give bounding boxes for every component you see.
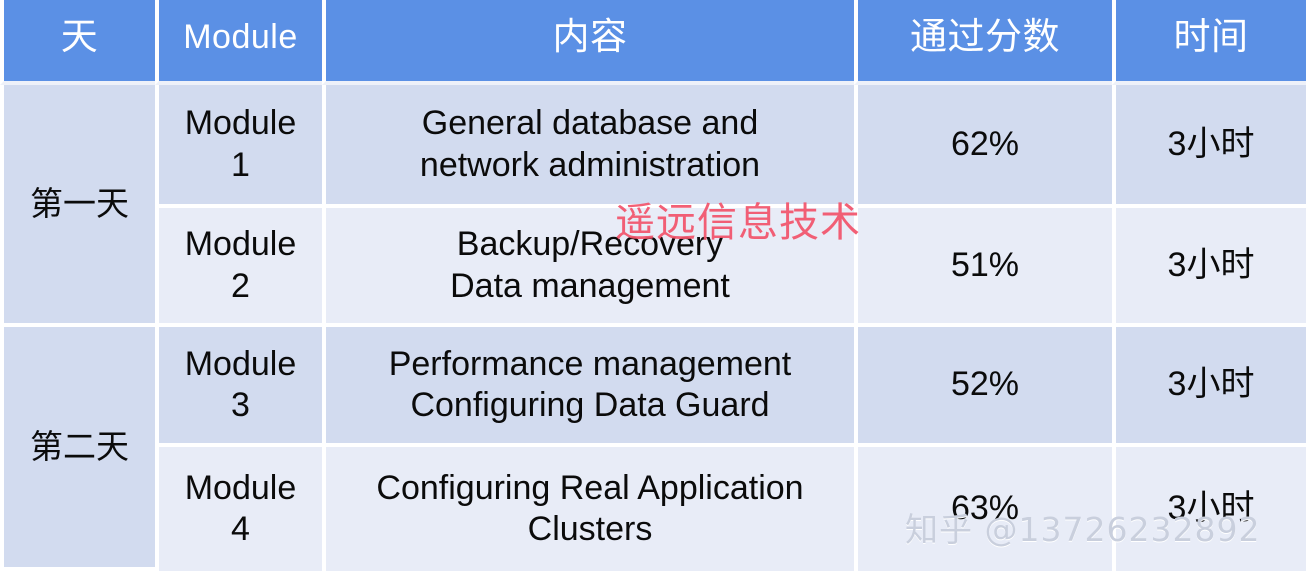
cell-module-2: Module 2	[155, 208, 322, 327]
cell-duration-1-text: 3小时	[1116, 124, 1306, 165]
cell-score-3-text: 52%	[858, 364, 1112, 405]
column-header-day-label: 天	[4, 18, 155, 63]
cell-module-1: Module 1	[155, 85, 322, 208]
cell-day-2: 第二天	[0, 327, 155, 571]
cell-score-4: 63%	[854, 447, 1112, 571]
cell-content-3: Performance management Configuring Data …	[322, 327, 854, 447]
cell-module-1-text: Module 1	[159, 103, 322, 186]
cell-module-2-text: Module 2	[159, 224, 322, 307]
cell-day-1-text: 第一天	[4, 184, 155, 224]
cell-duration-4: 3小时	[1112, 447, 1306, 571]
column-header-passing-score-label: 通过分数	[858, 18, 1112, 63]
column-header-day: 天	[0, 0, 155, 85]
column-header-passing-score: 通过分数	[854, 0, 1112, 85]
cell-content-1-text: General database and network administrat…	[334, 103, 846, 186]
cell-content-2-text: Backup/Recovery Data management	[334, 224, 846, 307]
cell-module-3: Module 3	[155, 327, 322, 447]
cell-score-2-text: 51%	[858, 245, 1112, 286]
cell-content-4-text: Configuring Real Application Clusters	[334, 468, 846, 551]
column-header-module-label: Module	[159, 20, 322, 62]
cell-score-1-text: 62%	[858, 124, 1112, 165]
cell-duration-2-text: 3小时	[1116, 245, 1306, 286]
table-row: 第一天 Module 1 General database and networ…	[0, 85, 1306, 208]
table-row: 第二天 Module 3 Performance management Conf…	[0, 327, 1306, 447]
cell-module-4-text: Module 4	[159, 468, 322, 551]
training-schedule-table: 天 Module 内容 通过分数 时间 第一天	[0, 0, 1306, 571]
cell-content-1: General database and network administrat…	[322, 85, 854, 208]
cell-score-1: 62%	[854, 85, 1112, 208]
cell-content-3-text: Performance management Configuring Data …	[334, 344, 846, 427]
column-header-content-label: 内容	[326, 18, 854, 63]
cell-duration-2: 3小时	[1112, 208, 1306, 327]
cell-content-4: Configuring Real Application Clusters	[322, 447, 854, 571]
cell-day-2-text: 第二天	[4, 427, 155, 467]
cell-day-1: 第一天	[0, 85, 155, 327]
table-body: 第一天 Module 1 General database and networ…	[0, 85, 1306, 571]
table-row: Module 2 Backup/Recovery Data management…	[0, 208, 1306, 327]
cell-duration-3: 3小时	[1112, 327, 1306, 447]
schedule-table-screenshot: 天 Module 内容 通过分数 时间 第一天	[0, 0, 1306, 571]
column-header-content: 内容	[322, 0, 854, 85]
cell-score-3: 52%	[854, 327, 1112, 447]
cell-module-4: Module 4	[155, 447, 322, 571]
cell-score-4-text: 63%	[858, 488, 1112, 529]
column-header-module: Module	[155, 0, 322, 85]
cell-score-2: 51%	[854, 208, 1112, 327]
cell-duration-4-text: 3小时	[1116, 488, 1306, 529]
cell-duration-1: 3小时	[1112, 85, 1306, 208]
table-header: 天 Module 内容 通过分数 时间	[0, 0, 1306, 85]
column-header-duration: 时间	[1112, 0, 1306, 85]
cell-module-3-text: Module 3	[159, 344, 322, 427]
table-row: Module 4 Configuring Real Application Cl…	[0, 447, 1306, 571]
cell-duration-3-text: 3小时	[1116, 364, 1306, 405]
cell-content-2: Backup/Recovery Data management	[322, 208, 854, 327]
column-header-duration-label: 时间	[1116, 18, 1306, 63]
